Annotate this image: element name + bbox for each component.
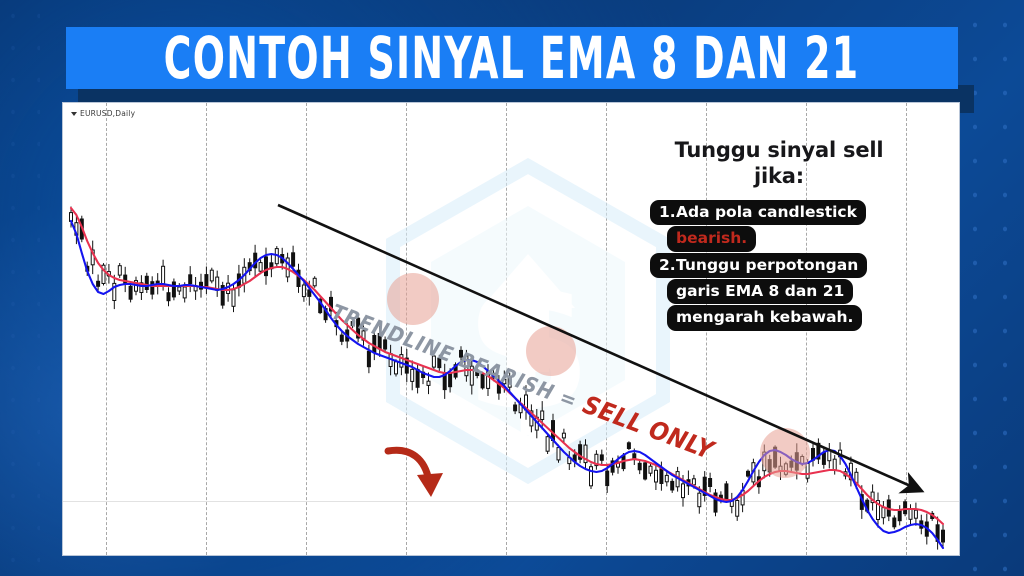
- list-text: Ada pola candlestick: [676, 203, 857, 221]
- notes-heading: Tunggu sinyal sell jika:: [650, 138, 908, 189]
- list-item: garis EMA 8 dan 21: [650, 279, 908, 304]
- notes-line: garis EMA 8 dan 21: [667, 279, 853, 304]
- list-number: 2.: [659, 257, 676, 273]
- list-item: mengarah kebawah.: [650, 305, 908, 330]
- list-item: 2.Tunggu perpotongan: [650, 253, 908, 278]
- title-banner: CONTOH SINYAL EMA 8 DAN 21: [66, 27, 958, 89]
- background-dot-pattern-left: [0, 0, 40, 576]
- notes-heading-line1: Tunggu sinyal sell: [650, 138, 908, 164]
- list-item: 1.Ada pola candlestick: [650, 200, 908, 225]
- list-text: Tunggu perpotongan: [676, 256, 858, 274]
- notes-line: bearish.: [667, 226, 756, 251]
- notes-line: 1.Ada pola candlestick: [650, 200, 866, 225]
- crossover-highlight-circle: [760, 428, 810, 478]
- notes-heading-line2: jika:: [650, 164, 908, 190]
- notes-list: 1.Ada pola candlestick bearish. 2.Tunggu…: [650, 200, 908, 330]
- list-text-accent: bearish.: [676, 229, 747, 247]
- notes-panel: Tunggu sinyal sell jika: 1.Ada pola cand…: [650, 138, 908, 332]
- notes-line: mengarah kebawah.: [667, 305, 862, 330]
- page-title: CONTOH SINYAL EMA 8 DAN 21: [164, 29, 860, 87]
- list-number: 1.: [659, 204, 676, 220]
- curved-arrow-down-icon: [388, 450, 443, 497]
- notes-line: 2.Tunggu perpotongan: [650, 253, 867, 278]
- list-item: bearish.: [650, 226, 908, 251]
